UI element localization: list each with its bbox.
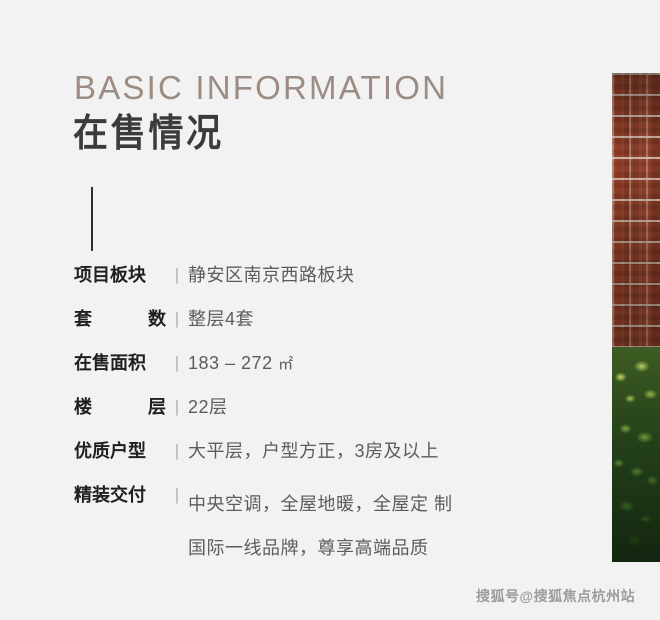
spec-value: 整层4套 xyxy=(188,306,254,332)
brick-wall-texture xyxy=(612,73,660,376)
spec-value-number: 183 – 272 xyxy=(188,353,273,373)
spec-separator: | xyxy=(166,482,188,508)
spec-value: 183 – 272 ㎡ xyxy=(188,350,294,378)
slide-root: BASIC INFORMATION 在售情况 项目板块 | 静安区南京西路板块 … xyxy=(0,0,660,620)
spec-label: 精装交付 xyxy=(74,482,166,508)
spec-value-line-2: 国际一线品牌，尊享高端品质 xyxy=(188,526,453,570)
spec-value-block: 中央空调，全屋地暖，全屋定 制 国际一线品牌，尊享高端品质 xyxy=(188,482,453,570)
watermark: 搜狐号@搜狐焦点杭州站 xyxy=(476,586,635,606)
spec-label-char: 层 xyxy=(148,394,166,420)
spec-list: 项目板块 | 静安区南京西路板块 套 数 | 整层4套 在售面积 | 183 –… xyxy=(74,262,544,570)
spec-row-layout: 优质户型 | 大平层，户型方正，3房及以上 xyxy=(74,438,544,482)
spec-value: 大平层，户型方正，3房及以上 xyxy=(188,438,439,464)
spec-separator: | xyxy=(166,350,188,376)
spec-label-char: 套 xyxy=(74,306,92,332)
brick-wall-photo xyxy=(612,73,660,562)
spec-row-area: 在售面积 | 183 – 272 ㎡ xyxy=(74,350,544,394)
page-title-chinese: 在售情况 xyxy=(73,113,224,157)
spec-row-project-block: 项目板块 | 静安区南京西路板块 xyxy=(74,262,544,306)
foliage-texture xyxy=(612,347,660,562)
spec-value-unit: ㎡ xyxy=(278,356,294,373)
spec-label: 优质户型 xyxy=(74,438,166,464)
spec-separator: | xyxy=(166,394,188,420)
page-title-english: BASIC INFORMATION xyxy=(74,70,448,106)
spec-value: 22层 xyxy=(188,394,228,420)
spec-label: 在售面积 xyxy=(74,350,166,376)
spec-value: 静安区南京西路板块 xyxy=(188,262,355,288)
spec-separator: | xyxy=(166,262,188,288)
spec-label-char: 楼 xyxy=(74,394,92,420)
spec-row-floor: 楼 层 | 22层 xyxy=(74,394,544,438)
spec-row-delivery: 精装交付 | 中央空调，全屋地暖，全屋定 制 国际一线品牌，尊享高端品质 xyxy=(74,482,544,570)
title-divider-rule xyxy=(91,187,93,251)
spec-value: 中央空调，全屋地暖，全屋定 制 xyxy=(188,482,453,526)
spec-label: 套 数 xyxy=(74,306,166,332)
spec-separator: | xyxy=(166,306,188,332)
spec-row-unit-count: 套 数 | 整层4套 xyxy=(74,306,544,350)
spec-separator: | xyxy=(166,438,188,464)
spec-label-char: 数 xyxy=(148,306,166,332)
spec-label: 项目板块 xyxy=(74,262,166,288)
spec-label: 楼 层 xyxy=(74,394,166,420)
